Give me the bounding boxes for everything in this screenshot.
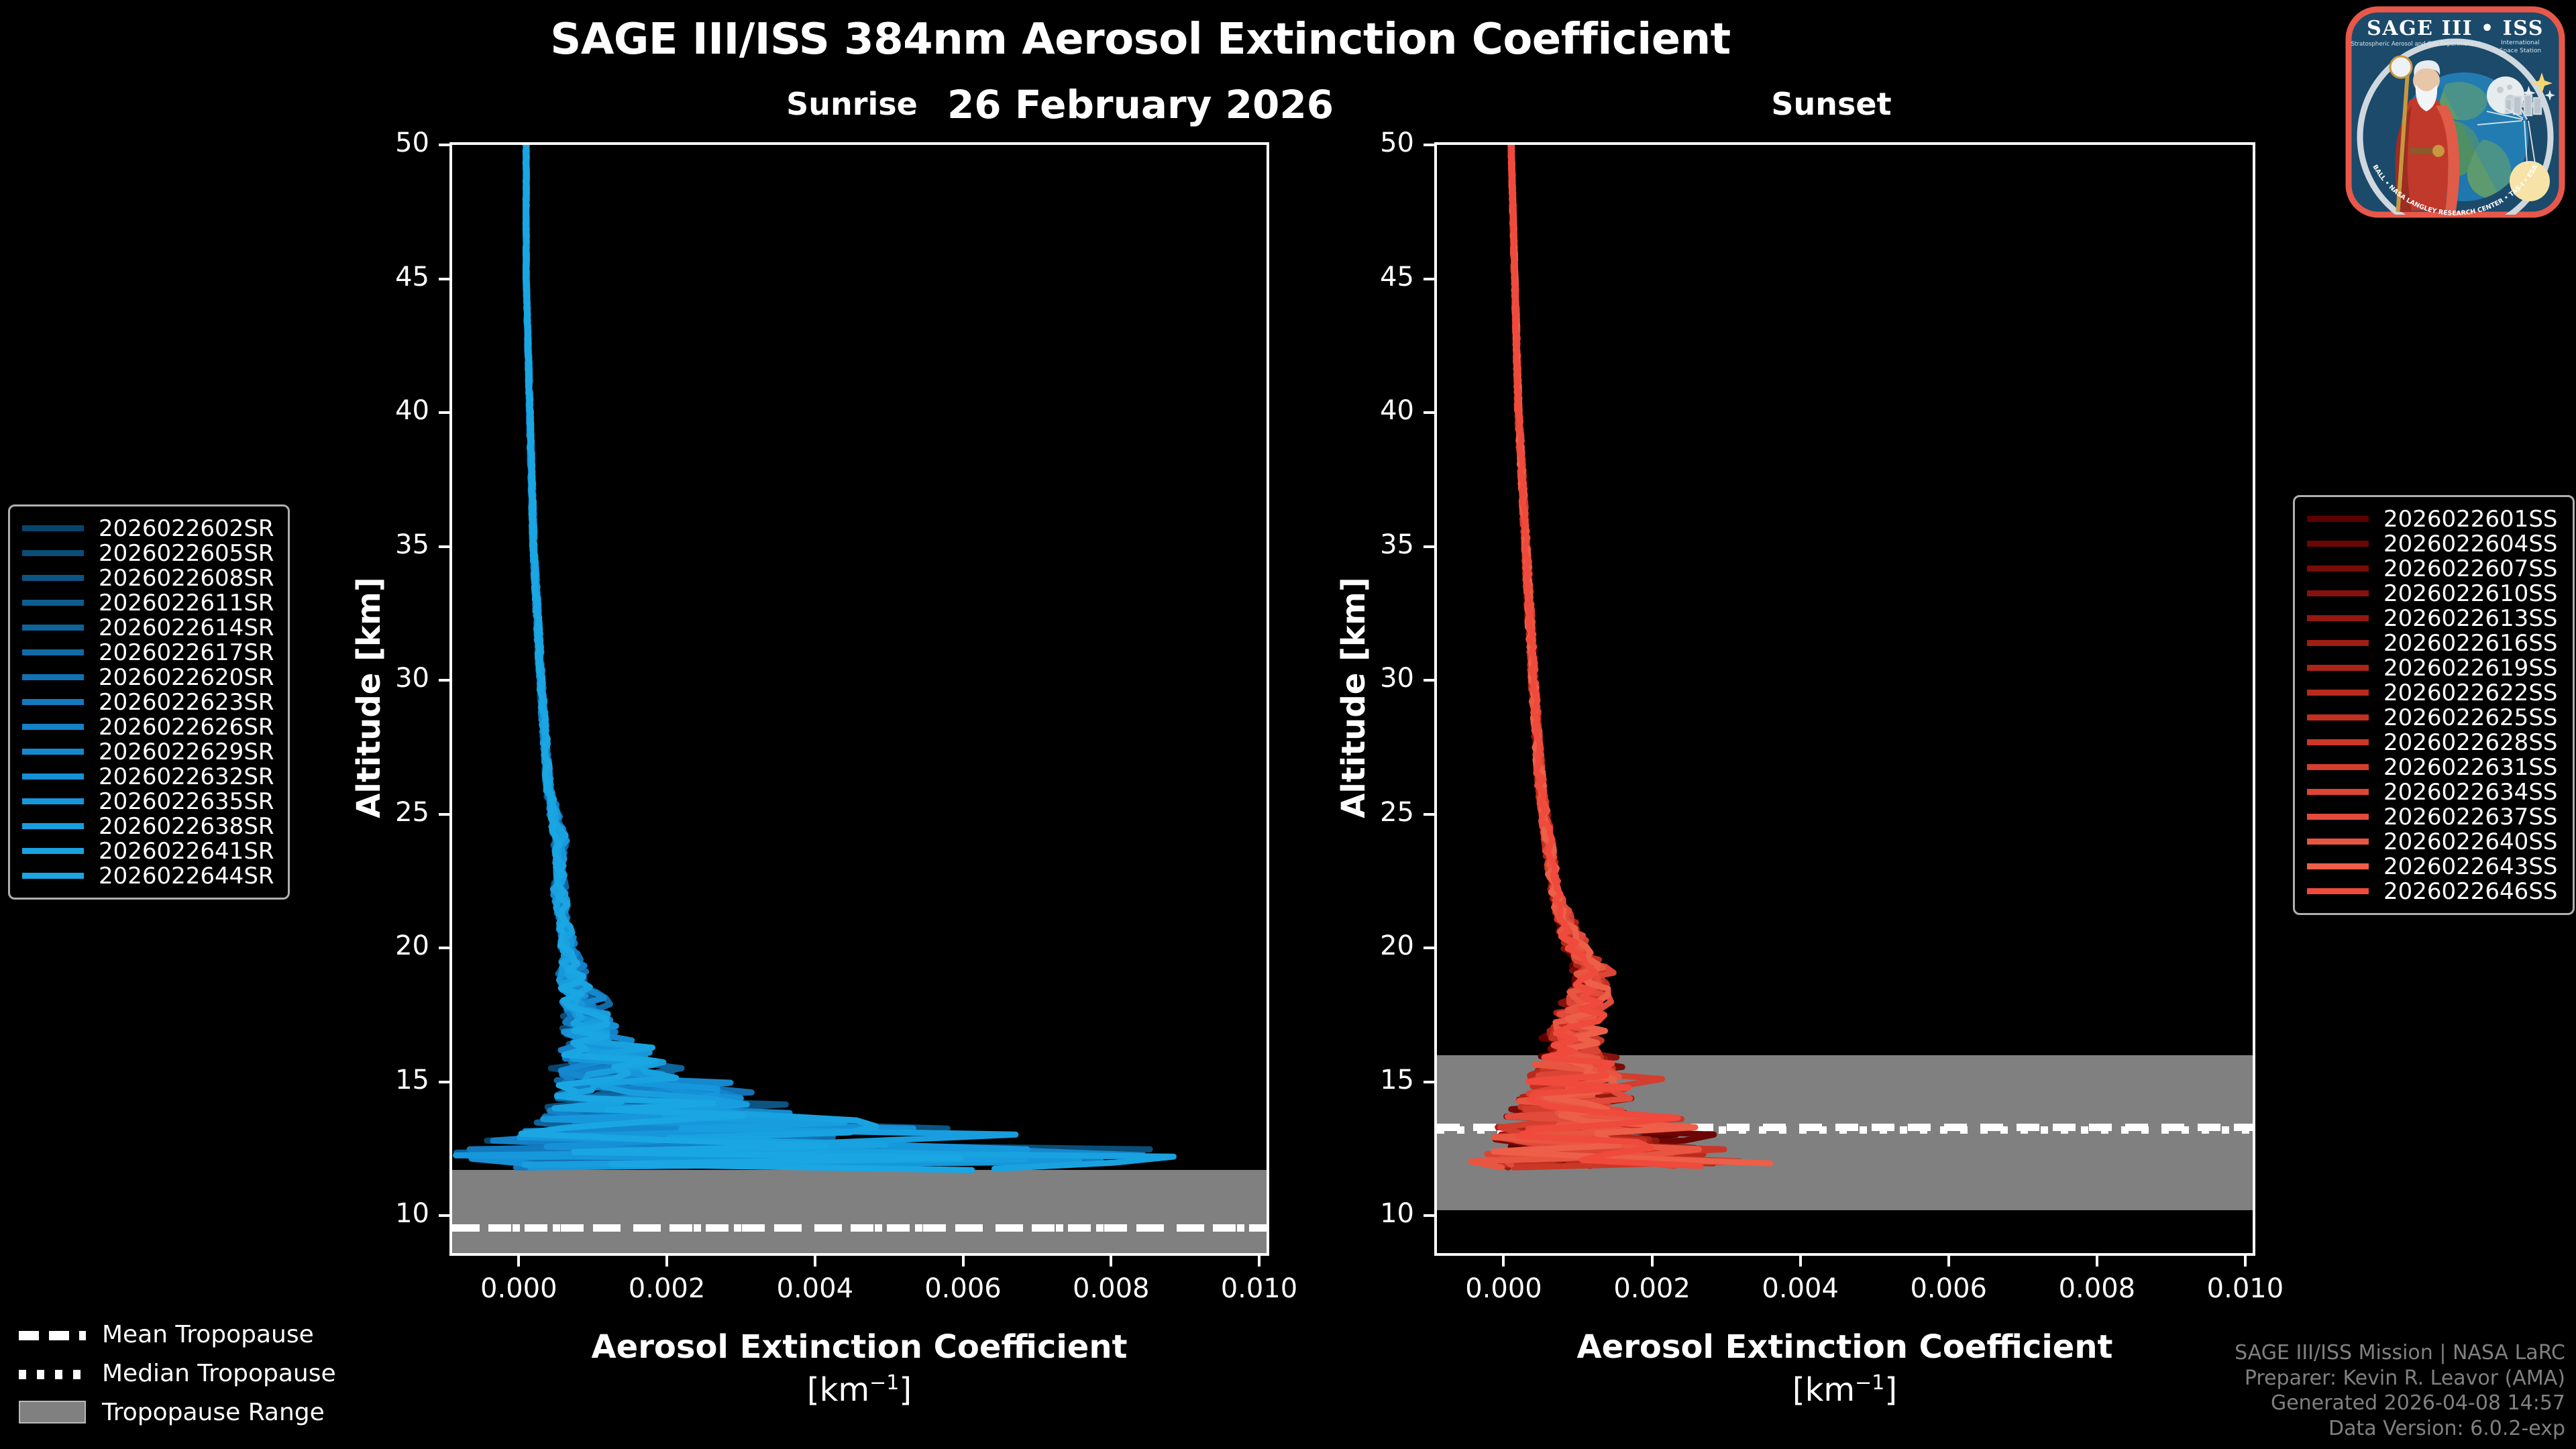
y-tick-mark [1424,545,1434,548]
x-axis-unit: [km−1] [1434,1371,2255,1409]
logo-subtitle-right-2: Space Station [2500,48,2541,54]
legend-color-swatch [2307,690,2369,696]
y-tick-label: 40 [1313,395,1414,426]
legend-item[interactable]: 2026022644SR [22,863,276,888]
legend-item-label: 2026022607SS [2383,555,2557,582]
credits-line-3: Generated 2026-04-08 14:57 [2235,1391,2565,1416]
legend-item-label: 2026022629SR [99,739,274,765]
legend-item[interactable]: 2026022640SS [2307,829,2561,854]
legend-item[interactable]: 2026022634SS [2307,780,2561,804]
x-tick-mark [1110,1256,1112,1267]
legend-item-label: 2026022637SS [2383,804,2557,830]
y-tick-mark [1424,947,1434,949]
y-tick-mark [439,1081,449,1083]
x-tick-mark [1651,1256,1654,1267]
x-tick-mark [2096,1256,2098,1267]
legend-item-label: 2026022622SS [2383,680,2557,706]
sunset-plot-area [1437,145,2253,1253]
y-tick-mark [439,679,449,682]
legend-color-swatch [2307,839,2369,845]
legend-item-label: 2026022644SR [99,863,274,890]
legend-color-swatch [2307,814,2369,820]
legend-item-label: 2026022611SR [99,590,274,616]
legend-color-swatch [22,525,84,531]
x-tick-label: 0.010 [1185,1273,1333,1304]
legend-item-label: 2026022631SS [2383,754,2557,781]
y-tick-label: 45 [329,262,429,292]
y-tick-mark [1424,411,1434,414]
credits-line-4: Data Version: 6.0.2-exp [2235,1416,2565,1442]
sunrise-panel-title: Sunrise [671,86,1033,122]
y-tick-label: 40 [329,395,429,426]
legend-color-swatch [22,699,84,705]
legend-item-label: 2026022623SR [99,689,274,716]
legend-item[interactable]: 2026022611SR [22,590,276,615]
x-tick-mark [1502,1256,1505,1267]
y-tick-label: 20 [1313,930,1414,961]
legend-item[interactable]: 2026022617SR [22,640,276,665]
x-tick-label: 0.002 [593,1273,741,1304]
y-tick-mark [439,813,449,816]
legend-color-swatch [2307,541,2369,547]
median-tropopause-label: Median Tropopause [102,1360,336,1387]
legend-color-swatch [2307,863,2369,869]
legend-item-label: 2026022616SS [2383,630,2557,657]
x-tick-label: 0.006 [890,1273,1037,1304]
mean-tropopause-label: Mean Tropopause [102,1321,314,1348]
legend-item[interactable]: 2026022643SS [2307,854,2561,879]
legend-color-swatch [2307,566,2369,572]
legend-item-label: 2026022626SR [99,714,274,741]
tropopause-range-label: Tropopause Range [102,1399,325,1426]
legend-color-swatch [22,600,84,606]
legend-color-swatch [22,625,84,631]
legend-item[interactable]: 2026022614SR [22,615,276,640]
legend-item-label: 2026022620SR [99,664,274,691]
legend-color-swatch [2307,640,2369,646]
legend-color-swatch [22,550,84,556]
series-line [525,145,1026,1165]
legend-item-label: 2026022619SS [2383,655,2557,682]
legend-item-label: 2026022638SR [99,813,274,840]
legend-item-label: 2026022605SR [99,540,274,567]
legend-item[interactable]: 2026022620SR [22,665,276,690]
legend-item[interactable]: 2026022608SR [22,566,276,590]
legend-color-swatch [22,773,84,780]
legend-color-swatch [22,873,84,879]
x-tick-label: 0.008 [1037,1273,1185,1304]
legend-item[interactable]: 2026022626SR [22,714,276,739]
x-tick-mark [517,1256,520,1267]
legend-item[interactable]: 2026022637SS [2307,804,2561,829]
x-tick-mark [814,1256,816,1267]
legend-item-label: 2026022617SR [99,639,274,666]
x-tick-label: 0.000 [1430,1273,1577,1304]
figure-root: SAGE III/ISS 384nm Aerosol Extinction Co… [0,0,2576,1449]
x-tick-mark [2244,1256,2247,1267]
key-row-range: Tropopause Range [19,1393,394,1432]
series-line [525,145,1144,1167]
sunrise-legend: 2026022602SR2026022605SR2026022608SR2026… [8,504,290,900]
legend-item-label: 2026022608SR [99,565,274,592]
legend-item[interactable]: 2026022628SS [2307,730,2561,755]
legend-item[interactable]: 2026022610SS [2307,581,2561,606]
page-title: SAGE III/ISS 384nm Aerosol Extinction Co… [0,15,2281,64]
x-axis-title: Aerosol Extinction Coefficient [449,1328,1269,1366]
x-tick-label: 0.006 [1875,1273,2023,1304]
legend-item-label: 2026022632SR [99,763,274,790]
series-line [502,145,858,1165]
credits-line-2: Preparer: Kevin R. Leavor (AMA) [2235,1366,2565,1391]
legend-color-swatch [22,575,84,581]
x-tick-mark [665,1256,668,1267]
legend-item[interactable]: 2026022616SS [2307,631,2561,655]
y-tick-label: 50 [329,127,429,158]
legend-color-swatch [22,848,84,854]
legend-item-label: 2026022640SS [2383,828,2557,855]
sage-iii-iss-logo: BALL • NASA LANGLEY RESEARCH CENTER • TA… [2345,5,2566,219]
legend-item[interactable]: 2026022632SR [22,764,276,789]
logo-subtitle-left: Stratospheric Aerosol and Gas Experiment… [2351,41,2481,48]
legend-item[interactable]: 2026022605SR [22,541,276,566]
y-tick-mark [1424,1081,1434,1083]
sunset-plot [1434,142,2255,1256]
credits-block: SAGE III/ISS Mission | NASA LaRC Prepare… [2235,1340,2565,1441]
legend-color-swatch [2307,516,2369,522]
series-line [525,145,1173,1169]
credits-line-1: SAGE III/ISS Mission | NASA LaRC [2235,1340,2565,1366]
y-tick-mark [439,144,449,146]
legend-color-swatch [22,823,84,829]
series-line [1511,145,1701,1166]
legend-item[interactable]: 2026022601SS [2307,506,2561,531]
legend-item-label: 2026022635SR [99,788,274,815]
legend-color-swatch [2307,764,2369,770]
legend-color-swatch [22,798,84,804]
y-tick-mark [439,278,449,280]
legend-item[interactable]: 2026022625SS [2307,705,2561,730]
legend-item-label: 2026022643SS [2383,853,2557,880]
legend-item[interactable]: 2026022631SS [2307,755,2561,780]
x-axis-unit: [km−1] [449,1371,1269,1409]
series-line [526,145,1150,1167]
legend-item[interactable]: 2026022607SS [2307,556,2561,581]
key-row-median: Median Tropopause [19,1354,394,1393]
y-axis-title: Altitude [km] [350,510,388,885]
legend-item-label: 2026022625SS [2383,704,2557,731]
legend-item[interactable]: 2026022629SR [22,739,276,764]
tropopause-key: Mean Tropopause Median Tropopause Tropop… [19,1315,394,1432]
y-tick-mark [1424,813,1434,816]
y-tick-label: 10 [1313,1198,1414,1229]
legend-color-swatch [22,749,84,755]
legend-item-label: 2026022601SS [2383,506,2557,533]
legend-color-swatch [2307,665,2369,671]
legend-item-label: 2026022613SS [2383,605,2557,632]
legend-color-swatch [22,649,84,655]
y-tick-label: 15 [1313,1065,1414,1095]
y-tick-mark [1424,144,1434,146]
legend-item[interactable]: 2026022623SR [22,690,276,714]
legend-item-label: 2026022614SR [99,614,274,641]
y-tick-label: 15 [329,1065,429,1095]
legend-item[interactable]: 2026022635SR [22,789,276,814]
y-tick-label: 20 [329,930,429,961]
y-tick-label: 45 [1313,262,1414,292]
legend-color-swatch [2307,714,2369,720]
legend-item-label: 2026022646SS [2383,878,2557,905]
legend-color-swatch [2307,888,2369,894]
series-line [456,145,1079,1167]
legend-color-swatch [22,674,84,680]
mean-tropopause-swatch [19,1331,86,1340]
x-tick-label: 0.004 [741,1273,889,1304]
x-tick-mark [962,1256,965,1267]
legend-item[interactable]: 2026022646SS [2307,879,2561,904]
legend-color-swatch [2307,739,2369,745]
sunrise-plot-area [452,145,1267,1253]
sunrise-curves [452,145,1267,1253]
key-row-mean: Mean Tropopause [19,1315,394,1354]
y-tick-mark [439,545,449,548]
sunset-legend: 2026022601SS2026022604SS2026022607SS2026… [2293,495,2575,915]
legend-color-swatch [2307,590,2369,596]
series-line [493,145,874,1165]
y-tick-mark [439,947,449,949]
legend-item[interactable]: 2026022638SR [22,814,276,839]
y-tick-mark [1424,679,1434,682]
sunset-curves [1437,145,2253,1253]
x-tick-mark [1258,1256,1260,1267]
legend-item[interactable]: 2026022604SS [2307,531,2561,556]
logo-subtitle-right-1: International [2501,40,2539,46]
x-tick-label: 0.004 [1727,1273,1874,1304]
legend-item-label: 2026022634SS [2383,779,2557,806]
legend-item-label: 2026022628SS [2383,729,2557,756]
legend-item-label: 2026022610SS [2383,580,2557,607]
series-line [1511,145,1714,1165]
y-tick-mark [1424,1214,1434,1217]
x-tick-mark [1947,1256,1950,1267]
legend-item[interactable]: 2026022619SS [2307,655,2561,680]
median-tropopause-swatch [19,1370,86,1379]
logo-title: SAGE III • ISS [2367,17,2544,40]
x-tick-label: 0.000 [445,1273,592,1304]
y-tick-mark [439,1214,449,1217]
legend-item-label: 2026022602SR [99,515,274,542]
legend-color-swatch [2307,615,2369,621]
x-axis-title: Aerosol Extinction Coefficient [1434,1328,2255,1366]
y-tick-label: 10 [329,1198,429,1229]
legend-item-label: 2026022641SR [99,838,274,865]
y-tick-mark [1424,278,1434,280]
legend-item[interactable]: 2026022622SS [2307,680,2561,705]
x-tick-label: 0.002 [1578,1273,1726,1304]
sunset-panel-title: Sunset [1650,86,2012,122]
y-tick-label: 50 [1313,127,1414,158]
y-axis-title: Altitude [km] [1335,510,1373,885]
y-tick-mark [439,411,449,414]
sunrise-plot [449,142,1269,1256]
tropopause-range-swatch [19,1401,86,1424]
legend-item[interactable]: 2026022613SS [2307,606,2561,631]
legend-item-label: 2026022604SS [2383,531,2557,557]
x-tick-mark [1799,1256,1802,1267]
legend-color-swatch [2307,789,2369,795]
x-tick-label: 0.010 [2171,1273,2319,1304]
x-tick-label: 0.008 [2023,1273,2171,1304]
legend-item[interactable]: 2026022641SR [22,839,276,863]
legend-color-swatch [22,724,84,730]
legend-item[interactable]: 2026022602SR [22,516,276,541]
